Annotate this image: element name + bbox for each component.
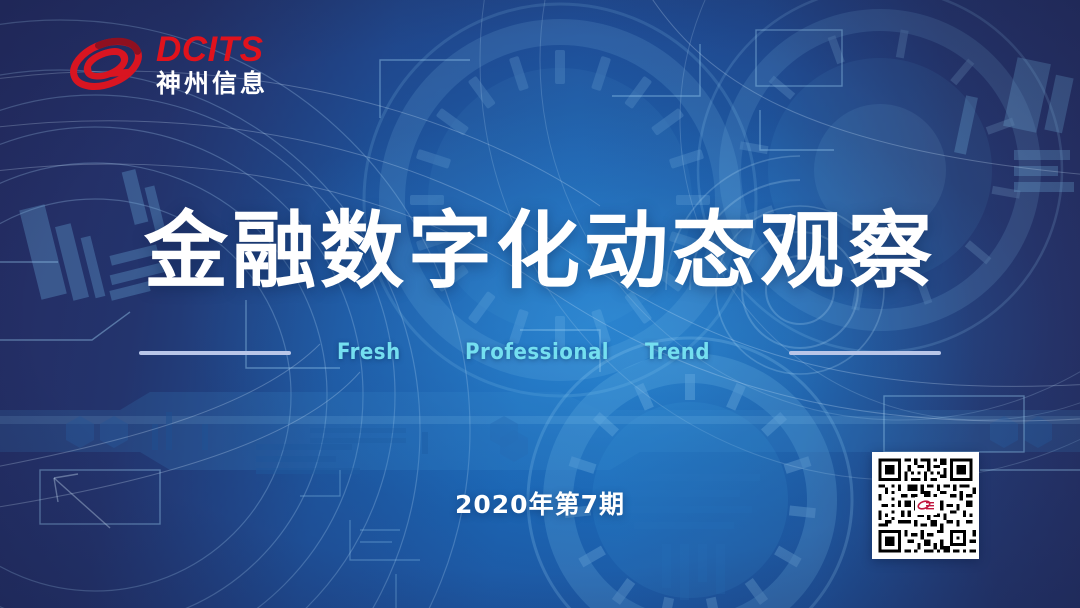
decorative-rule-left	[139, 351, 291, 355]
brand-logo[interactable]: DCITS 神州信息	[66, 28, 268, 100]
brand-name-cn: 神州信息	[156, 71, 268, 96]
tagline-word-fresh: Fresh	[337, 340, 465, 365]
poster-title: 金融数字化动态观察	[0, 184, 1080, 305]
tagline-word-professional: Professional	[465, 340, 645, 365]
poster-canvas: DCITS 神州信息 金融数字化动态观察 Fresh Professional …	[0, 0, 1080, 608]
brand-wordmark: DCITS 神州信息	[156, 32, 268, 96]
tagline-word-trend: Trend	[645, 340, 731, 365]
qr-center-logo-icon	[915, 497, 937, 515]
dcits-spiral-icon	[66, 28, 146, 100]
tagline-row: Fresh Professional Trend	[0, 340, 1080, 365]
decorative-rule-right	[789, 351, 941, 355]
wechat-qr-code[interactable]	[872, 452, 979, 559]
brand-name-en: DCITS	[156, 32, 268, 67]
